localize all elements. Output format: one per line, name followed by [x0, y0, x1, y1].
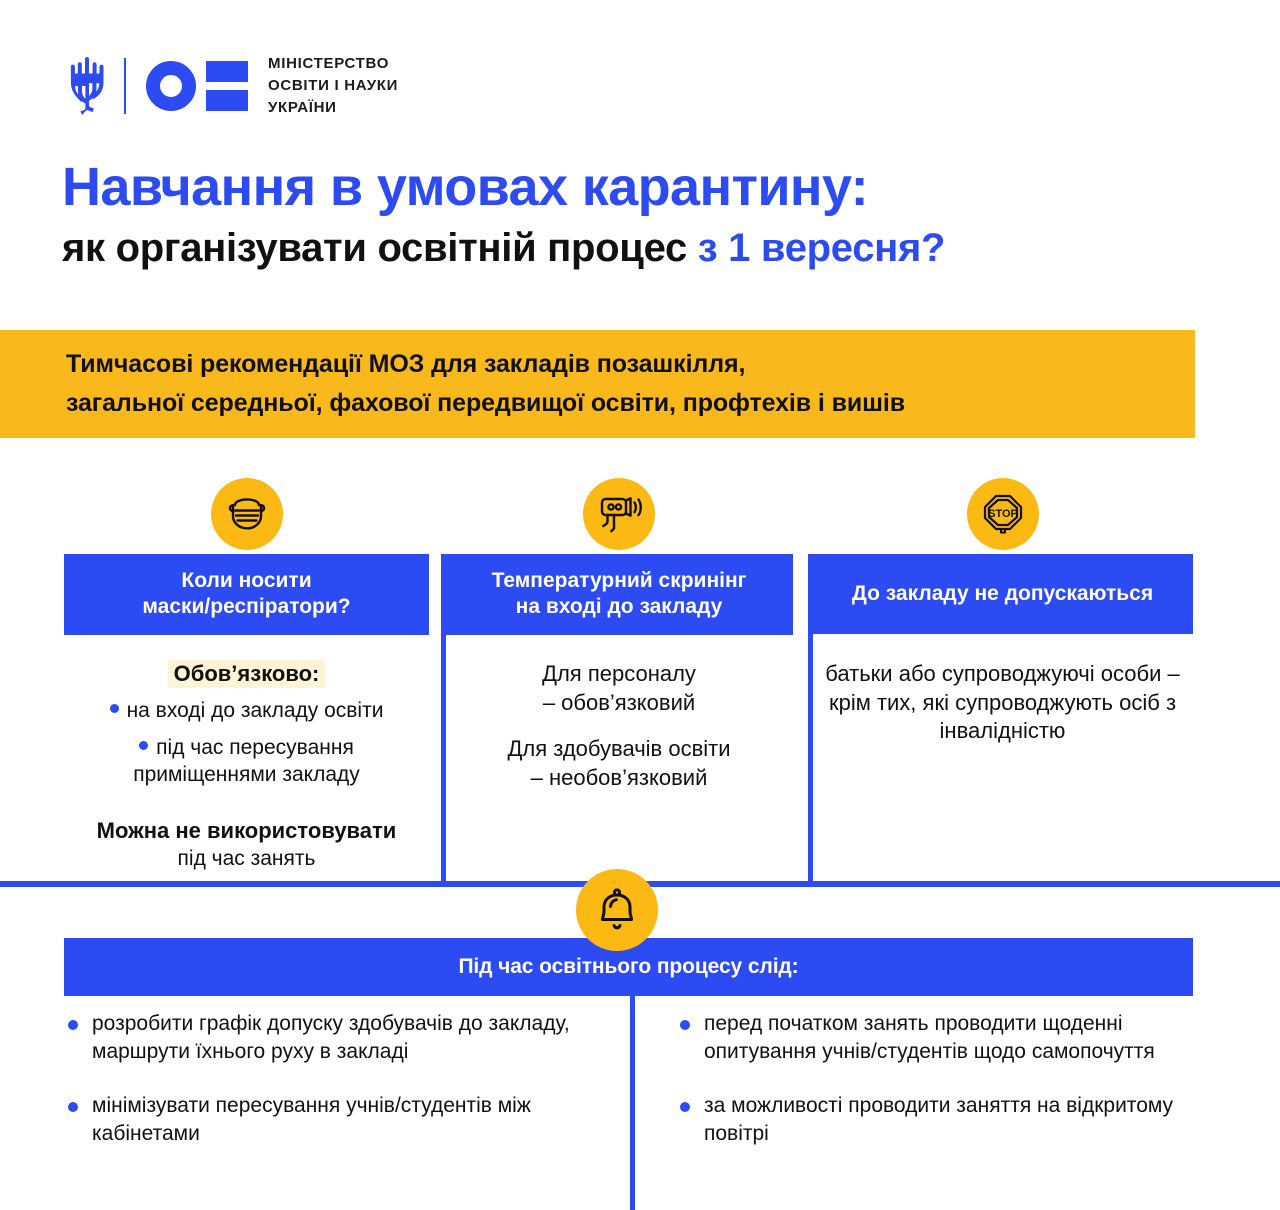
card-temperature-screening-title: Температурний скринінг на вході до закла…	[445, 554, 793, 635]
bullet-dot-icon	[139, 741, 148, 750]
bottom-right-column: перед початком занять проводити щоденні …	[672, 1010, 1192, 1175]
card-masks-bullet-1: на вході до закладу освіти	[127, 699, 384, 722]
list-item: під час пересування приміщеннями закладу	[70, 735, 423, 789]
ministry-name-line1: МІНІСТЕРСТВО	[268, 53, 398, 75]
ukraine-trident-icon	[68, 57, 106, 115]
ministry-name: МІНІСТЕРСТВО ОСВІТИ І НАУКИ УКРАЇНИ	[268, 53, 398, 118]
bottom-left-column: розробити графік допуску здобувачів до з…	[60, 1010, 620, 1175]
bottom-banner-title: Під час освітнього процесу слід:	[458, 955, 798, 979]
cards-row: Коли носити маски/респіратори? Обов’язко…	[0, 478, 1280, 888]
card-masks-title: Коли носити маски/респіратори?	[64, 554, 429, 635]
subtitle-banner-line1: Тимчасові рекомендації МОЗ для закладів …	[66, 345, 1195, 384]
stop-sign-icon: STOP	[967, 478, 1039, 550]
list-item: за можливості проводити заняття на відкр…	[672, 1092, 1192, 1148]
subtitle-banner: Тимчасові рекомендації МОЗ для закладів …	[0, 330, 1195, 438]
svg-text:STOP: STOP	[988, 508, 1018, 520]
card-masks-bullet-list: на вході до закладу освіти під час перес…	[70, 698, 423, 789]
subtitle-banner-line2: загальної середньої, фахової передвищої …	[66, 384, 1195, 423]
card-not-allowed-text: батьки або супроводжуючі особи – крім ти…	[818, 660, 1187, 746]
card-temp-title-line1: Температурний скринінг	[492, 569, 747, 592]
title-line-2: як організувати освітній процес з 1 вере…	[62, 226, 1222, 271]
list-item: перед початком занять проводити щоденні …	[672, 1010, 1192, 1066]
card-not-allowed-title: До закладу не допускаються	[812, 554, 1193, 634]
card-temp-title-line2: на вході до закладу	[516, 595, 723, 618]
card-not-allowed-body: батьки або супроводжуючі особи – крім ти…	[812, 646, 1193, 746]
card-not-allowed-title-line1: До закладу не допускаються	[852, 581, 1153, 607]
bell-icon	[576, 869, 658, 951]
page-title: Навчання в умовах карантину: як організу…	[62, 158, 1222, 271]
card-temp-staff-line1: Для персоналу	[451, 660, 787, 689]
mon-bars-icon	[206, 61, 248, 111]
ministry-name-line2: ОСВІТИ І НАУКИ	[268, 75, 398, 97]
list-item: розробити графік допуску здобувачів до з…	[60, 1010, 620, 1066]
logo-divider	[124, 58, 126, 114]
thermometer-gun-icon	[583, 478, 655, 550]
bottom-left-list: розробити графік допуску здобувачів до з…	[60, 1010, 620, 1149]
bullet-dot-icon	[110, 704, 119, 713]
title-line-1: Навчання в умовах карантину:	[62, 158, 1222, 216]
card-temp-staff-line2: – обов’язковий	[451, 689, 787, 718]
card-temp-students-line2: – необов’язковий	[451, 764, 787, 793]
title-line-2-accent: з 1 вересня?	[698, 226, 945, 270]
ministry-name-line3: УКРАЇНИ	[268, 97, 398, 119]
card-masks-highlight: Обов’язково:	[168, 660, 326, 688]
card-masks-title-line1: Коли носити	[181, 569, 311, 592]
mon-o-ring-icon	[146, 61, 196, 111]
ministry-logo: МІНІСТЕРСТВО ОСВІТИ І НАУКИ УКРАЇНИ	[68, 50, 398, 122]
card-masks-title-line2: маски/респіратори?	[142, 595, 350, 618]
face-mask-icon	[211, 478, 283, 550]
card-masks-bullet-2: під час пересування приміщеннями закладу	[133, 736, 360, 786]
card-masks-note-plain: під час занять	[70, 845, 423, 872]
infographic-page: МІНІСТЕРСТВО ОСВІТИ І НАУКИ УКРАЇНИ Навч…	[0, 0, 1280, 1210]
list-item: на вході до закладу освіти	[70, 698, 423, 725]
list-item: мінімізувати пересування учнів/студентів…	[60, 1092, 620, 1148]
card-masks-note-bold: Можна не використовувати	[70, 817, 423, 846]
title-line-2-black: як організувати освітній процес	[62, 226, 698, 270]
card-masks-body: Обов’язково: на вході до закладу освіти …	[64, 646, 429, 873]
card-temp-students-line1: Для здобувачів освіти	[451, 735, 787, 764]
card-temperature-screening-body: Для персоналу – обов’язковий Для здобува…	[445, 646, 793, 792]
bottom-right-list: перед початком занять проводити щоденні …	[672, 1010, 1192, 1149]
bottom-columns: розробити графік допуску здобувачів до з…	[0, 1010, 1280, 1210]
